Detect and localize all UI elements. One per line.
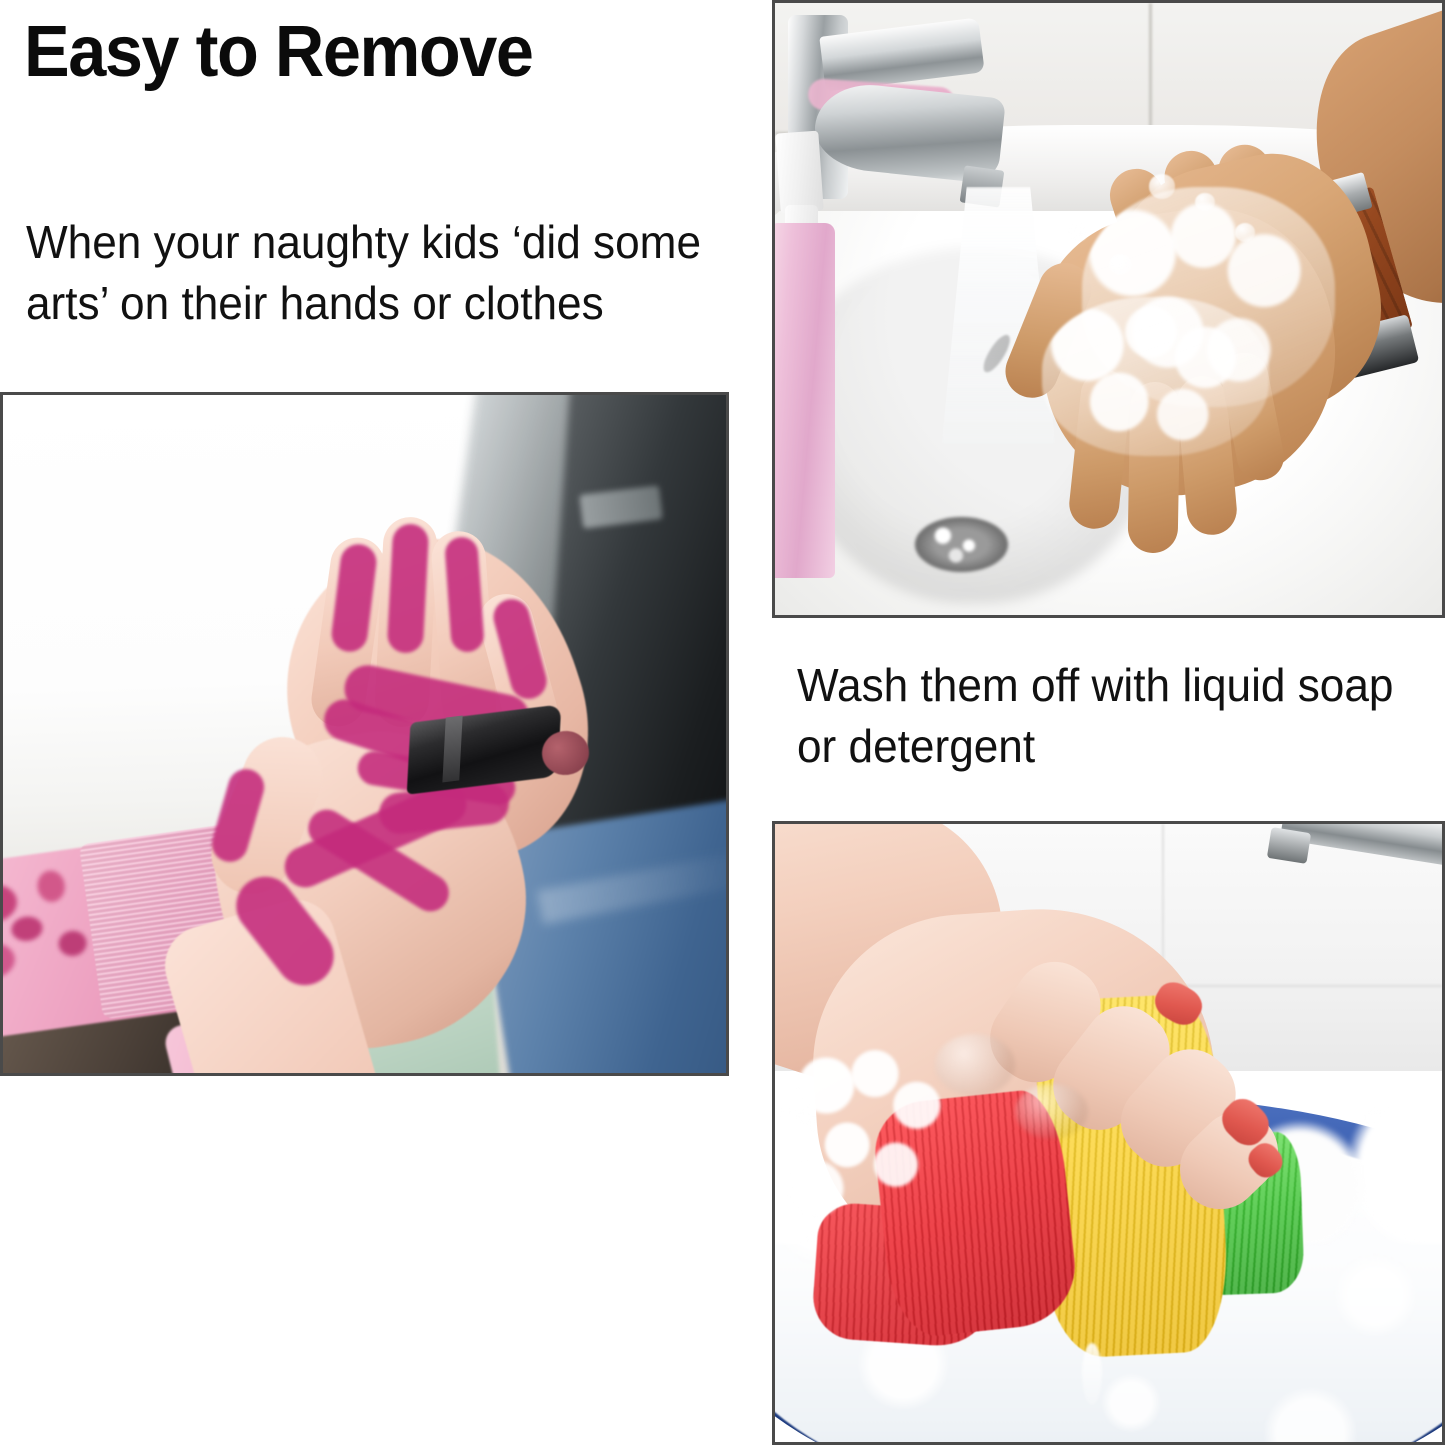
- soap-lather: [1042, 297, 1269, 456]
- kid-hands-scene: [3, 395, 726, 1073]
- soap-bubble: [1109, 254, 1132, 275]
- marker-collar-ring: [442, 716, 463, 783]
- infographic-page: Easy to Remove When your naughty kids ‘d…: [0, 0, 1445, 1445]
- pink-liquid-soap-bottle: [772, 223, 835, 578]
- foam-on-hand: [788, 1034, 961, 1232]
- handwash-scene: [775, 3, 1442, 615]
- photo-washing-cloths: [772, 821, 1445, 1445]
- soap-bubble: [1235, 223, 1255, 241]
- tap-outlet: [1266, 827, 1310, 864]
- page-title: Easy to Remove: [24, 14, 532, 90]
- intro-paragraph: When your naughty kids ‘did some arts’ o…: [26, 212, 710, 334]
- knuckle-highlight: [1015, 1084, 1088, 1140]
- sink-drain-with-suds: [915, 517, 1008, 572]
- soap-bottle-cap: [776, 130, 825, 212]
- photo-kid-marker-hands: [0, 392, 729, 1076]
- cloth-wash-scene: [775, 824, 1442, 1442]
- soap-bubble: [1068, 223, 1088, 241]
- photo-hand-washing-sink: [772, 0, 1445, 618]
- ink-stain: [386, 523, 429, 654]
- wash-instruction-caption: Wash them off with liquid soap or deterg…: [797, 655, 1411, 777]
- water-drip: [1082, 1343, 1102, 1405]
- soap-bubble: [1149, 174, 1176, 198]
